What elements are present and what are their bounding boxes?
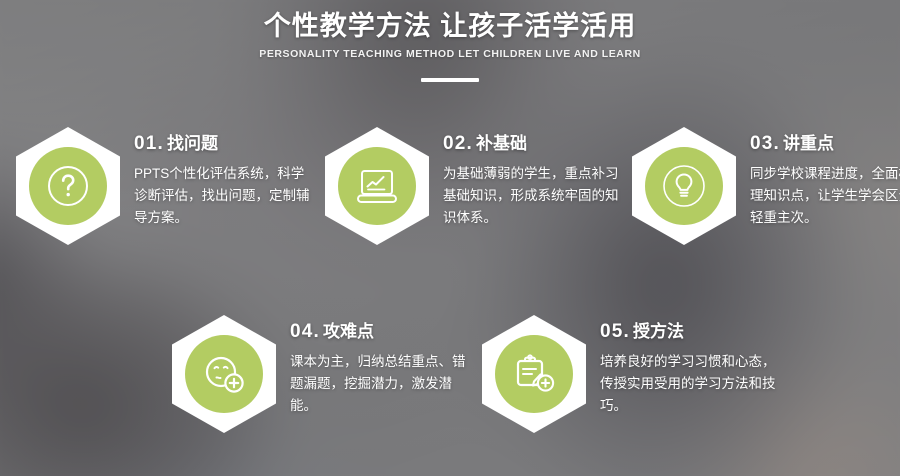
card-heading: 找问题 <box>167 134 218 153</box>
card-text: 03.讲重点 同步学校课程进度，全面梳理知识点，让学生学会区分轻重主次。 <box>750 127 900 228</box>
question-mark-icon <box>45 163 91 209</box>
card-heading: 攻难点 <box>323 322 374 341</box>
card-heading: 授方法 <box>633 322 684 341</box>
card-number: 04. <box>290 321 320 342</box>
card-description: 同步学校课程进度，全面梳理知识点，让学生学会区分轻重主次。 <box>750 163 900 229</box>
card-number: 01. <box>134 133 164 154</box>
method-card-03[interactable]: 03.讲重点 同步学校课程进度，全面梳理知识点，让学生学会区分轻重主次。 <box>632 127 900 245</box>
card-number: 05. <box>600 321 630 342</box>
icon-disc <box>495 335 573 413</box>
clipboard-pen-plus-icon <box>510 351 558 397</box>
card-heading: 讲重点 <box>783 134 834 153</box>
card-number: 02. <box>443 133 473 154</box>
hexagon-badge <box>482 315 586 433</box>
card-text: 05.授方法 培养良好的学习习惯和心态，传授实用受用的学习方法和技巧。 <box>600 315 778 416</box>
title-divider <box>421 78 479 82</box>
method-card-05[interactable]: 05.授方法 培养良好的学习习惯和心态，传授实用受用的学习方法和技巧。 <box>482 315 778 433</box>
face-plus-icon <box>200 351 248 397</box>
lightbulb-icon <box>659 161 709 211</box>
icon-disc <box>185 335 263 413</box>
card-description: 课本为主，归纳总结重点、错题漏题，挖掘潜力，激发潜能。 <box>290 351 468 417</box>
method-card-02[interactable]: 02.补基础 为基础薄弱的学生，重点补习基础知识，形成系统牢固的知识体系。 <box>325 127 621 245</box>
card-title: 05.授方法 <box>600 321 778 344</box>
card-text: 01.找问题 PPTS个性化评估系统，科学诊断评估，找出问题，定制辅导方案。 <box>134 127 312 228</box>
teaching-method-banner: 个性教学方法 让孩子活学活用 PERSONALITY TEACHING METH… <box>0 0 900 476</box>
card-description: PPTS个性化评估系统，科学诊断评估，找出问题，定制辅导方案。 <box>134 163 312 229</box>
card-number: 03. <box>750 133 780 154</box>
card-description: 培养良好的学习习惯和心态，传授实用受用的学习方法和技巧。 <box>600 351 778 417</box>
hexagon-badge <box>632 127 736 245</box>
page-title: 个性教学方法 让孩子活学活用 <box>0 8 900 44</box>
card-title: 01.找问题 <box>134 133 312 156</box>
method-card-04[interactable]: 04.攻难点 课本为主，归纳总结重点、错题漏题，挖掘潜力，激发潜能。 <box>172 315 468 433</box>
hexagon-badge <box>325 127 429 245</box>
card-title: 03.讲重点 <box>750 133 900 156</box>
icon-disc <box>645 147 723 225</box>
page-subtitle: PERSONALITY TEACHING METHOD LET CHILDREN… <box>0 48 900 60</box>
banner-header: 个性教学方法 让孩子活学活用 PERSONALITY TEACHING METH… <box>0 0 900 82</box>
hexagon-badge <box>16 127 120 245</box>
icon-disc <box>338 147 416 225</box>
icon-disc <box>29 147 107 225</box>
hexagon-badge <box>172 315 276 433</box>
laptop-chart-icon <box>353 164 401 208</box>
method-card-01[interactable]: 01.找问题 PPTS个性化评估系统，科学诊断评估，找出问题，定制辅导方案。 <box>16 127 312 245</box>
card-description: 为基础薄弱的学生，重点补习基础知识，形成系统牢固的知识体系。 <box>443 163 621 229</box>
card-text: 04.攻难点 课本为主，归纳总结重点、错题漏题，挖掘潜力，激发潜能。 <box>290 315 468 416</box>
card-title: 04.攻难点 <box>290 321 468 344</box>
card-heading: 补基础 <box>476 134 527 153</box>
card-text: 02.补基础 为基础薄弱的学生，重点补习基础知识，形成系统牢固的知识体系。 <box>443 127 621 228</box>
card-title: 02.补基础 <box>443 133 621 156</box>
